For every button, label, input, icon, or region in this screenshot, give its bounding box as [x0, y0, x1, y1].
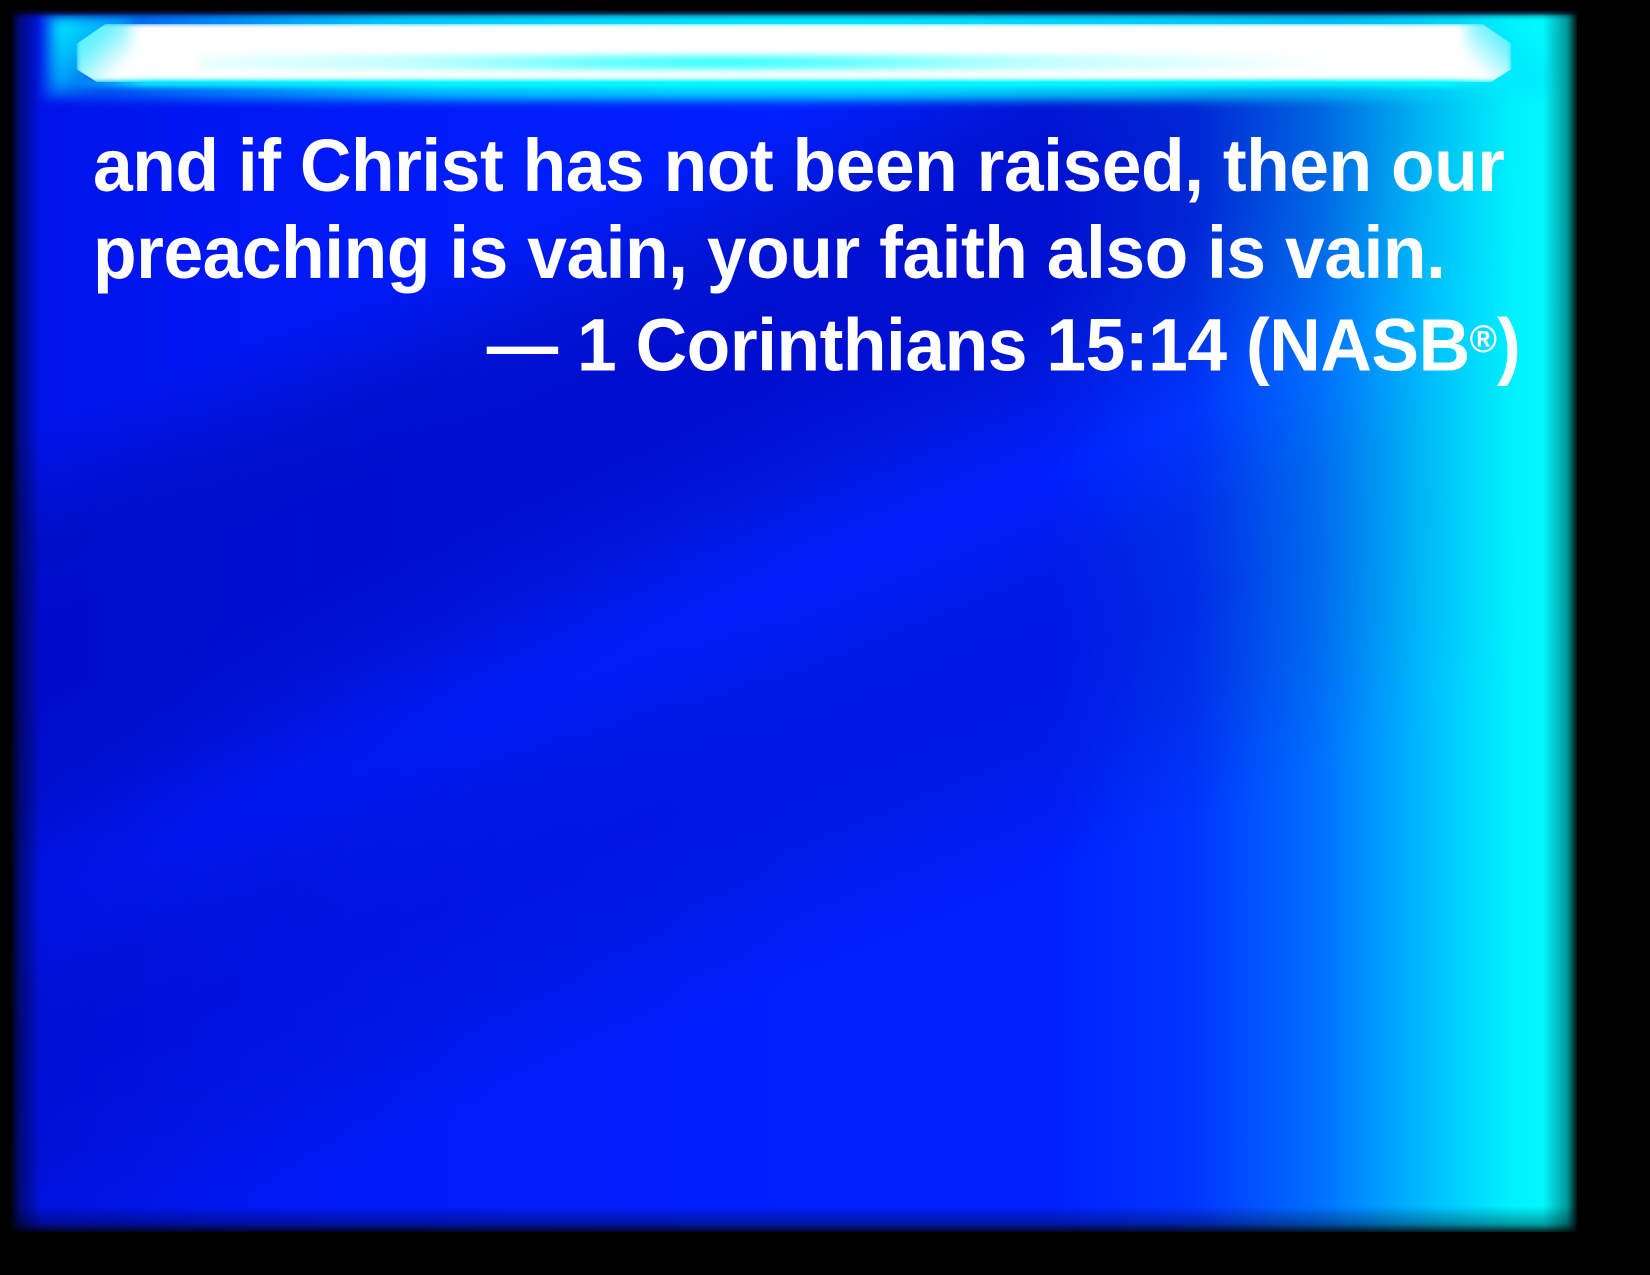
- verse-line-2: preaching is vain, your faith also is va…: [93, 209, 1502, 296]
- slide-background-canvas: and if Christ has not been raised, then …: [11, 10, 1577, 1232]
- verse-attribution: — 1 Corinthians 15:14 (NASB®): [93, 296, 1502, 388]
- registered-trademark-icon: ®: [1470, 318, 1497, 361]
- verse-text-block: and if Christ has not been raised, then …: [11, 122, 1577, 388]
- attribution-prefix: — 1 Corinthians 15:14 (NASB: [487, 303, 1470, 386]
- slide-frame: and if Christ has not been raised, then …: [0, 0, 1650, 1275]
- attribution-close-paren: ): [1497, 303, 1520, 386]
- verse-line-1: and if Christ has not been raised, then …: [93, 122, 1502, 209]
